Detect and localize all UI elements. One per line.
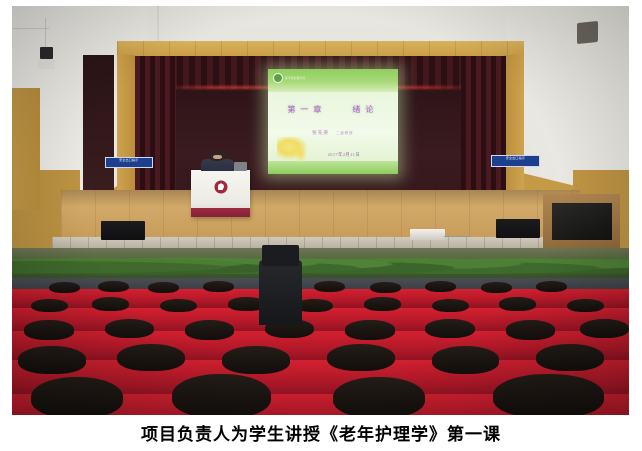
podium-base (191, 208, 250, 216)
right-curtain (461, 56, 505, 207)
left-door (12, 88, 40, 211)
audience-head (432, 299, 469, 313)
audience-head (425, 281, 456, 292)
audience-head (499, 297, 536, 311)
projection-screen: 医学院护理学院 第一章 绪论 张先庚二级教授 2017年2月21日 (268, 69, 398, 173)
slide-presenter-name: 张先庚 (312, 130, 329, 135)
school-emblem-icon (273, 73, 283, 83)
audience-head (370, 282, 401, 293)
audience-head (172, 374, 271, 415)
audience-head (425, 319, 474, 338)
slide-bottom-band (268, 161, 398, 174)
proscenium-left-column (117, 55, 136, 206)
photo-caption: 项目负责人为学生讲授《老年护理学》第一课 (0, 420, 642, 445)
audience-head (31, 377, 124, 415)
projector-cable (444, 236, 469, 237)
audience-head (222, 346, 290, 373)
wall-monitor-icon (552, 203, 612, 240)
podium-laptop (234, 162, 247, 170)
audience-head (314, 281, 345, 292)
left-wall-sign-text: 安全出口指示 (106, 158, 152, 163)
audience-area (12, 278, 629, 415)
camera-mount (38, 59, 55, 69)
lecture-hall-photo: 医学院护理学院 第一章 绪论 张先庚二级教授 2017年2月21日 (12, 6, 629, 415)
video-camera-icon (262, 245, 299, 265)
security-camera-icon (40, 47, 54, 59)
audience-head (481, 282, 512, 293)
audience-head (18, 346, 86, 373)
floor-speaker-left (101, 221, 144, 240)
audience-head (148, 282, 179, 293)
audience-head (580, 319, 629, 338)
podium (191, 170, 250, 217)
slide-date: 2017年2月21日 (328, 152, 361, 158)
videographer (259, 260, 302, 325)
slide-logo-text: 医学院护理学院 (285, 76, 305, 80)
audience-head (98, 281, 129, 292)
audience-head (24, 320, 73, 339)
audience-head (506, 320, 555, 339)
right-wall-sign-text: 安全出口指示 (492, 156, 538, 161)
audience-head (160, 299, 197, 313)
projector (410, 229, 445, 240)
audience-head (105, 319, 154, 338)
audience-head (493, 374, 604, 415)
ceiling-speaker-icon (577, 21, 598, 44)
stage-side-opening (83, 55, 114, 198)
slide-logo: 医学院护理学院 (273, 73, 305, 83)
slide-chapter-title: 第一章 绪论 (268, 104, 398, 115)
wooden-cabinet (543, 194, 620, 251)
presenter-body (201, 159, 234, 171)
left-wall-sign: 安全出口指示 (105, 157, 153, 169)
audience-head (117, 344, 185, 371)
audience-head (92, 297, 129, 311)
audience-head (185, 320, 234, 339)
audience-head (567, 299, 604, 313)
audience-head (203, 281, 234, 292)
slide-decoration-2 (295, 146, 307, 164)
audience-head (536, 344, 604, 371)
audience-head (536, 281, 567, 292)
right-wall-sign: 安全出口指示 (491, 155, 539, 167)
presenter-face (213, 155, 221, 159)
audience-head (327, 344, 395, 371)
proscenium-right-column (504, 55, 524, 206)
audience-head (345, 320, 394, 339)
page-root: 医学院护理学院 第一章 绪论 张先庚二级教授 2017年2月21日 (0, 0, 642, 451)
audience-head (333, 377, 426, 415)
audience-head (31, 299, 68, 313)
audience-head (364, 297, 401, 311)
podium-emblem-icon (214, 181, 227, 194)
slide-presenter: 张先庚二级教授 (268, 130, 398, 136)
ceiling-conduit (12, 28, 49, 29)
audience-head (49, 282, 80, 293)
slide-presenter-title: 二级教授 (336, 131, 354, 135)
audience-head (432, 346, 500, 373)
left-curtain (135, 56, 176, 207)
floor-speaker-right (496, 219, 539, 238)
